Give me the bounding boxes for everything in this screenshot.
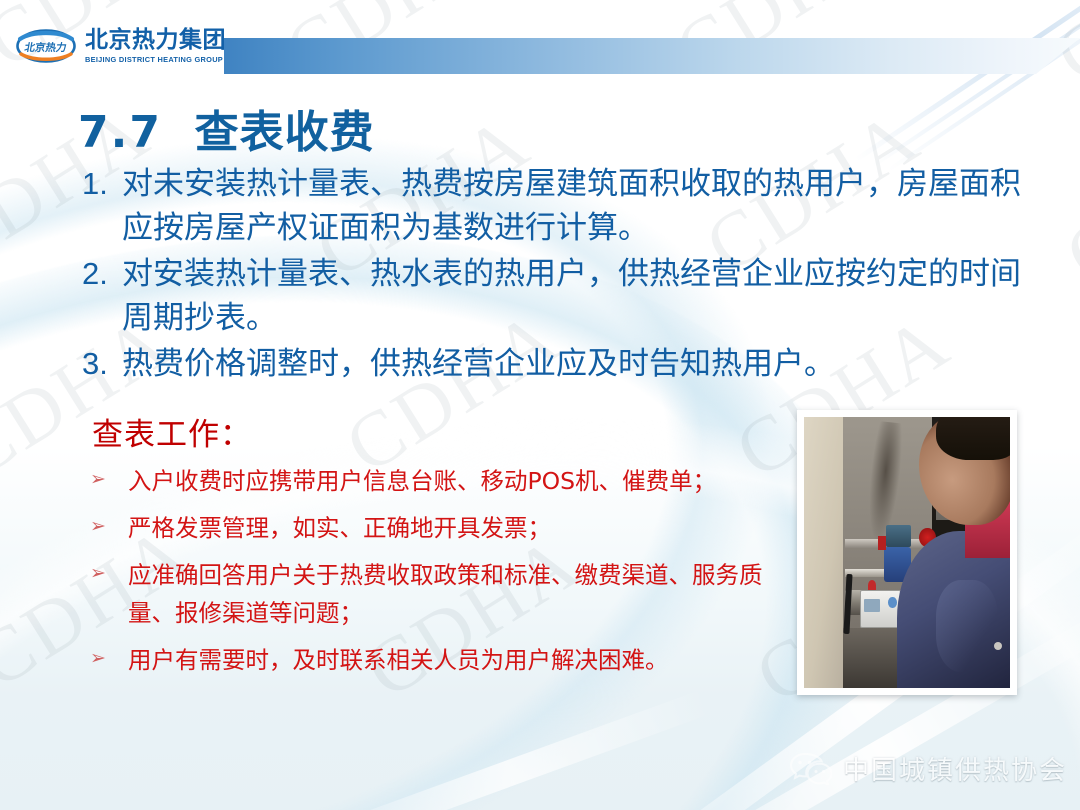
page-title: 7.7 查表收费 (78, 96, 375, 160)
list-item-text: 对安装热计量表、热水表的热用户，供热经营企业应按约定的时间周期抄表。 (122, 252, 1032, 340)
bullet-list: ➢ 入户收费时应携带用户信息台账、移动POS机、催费单； ➢ 严格发票管理，如实… (90, 462, 790, 688)
photo-worker-hair (936, 417, 1010, 460)
logo-english-name: BEIJING DISTRICT HEATING GROUP (85, 55, 226, 64)
bullet-item: ➢ 应准确回答用户关于热费收取政策和标准、缴费渠道、服务质量、报修渠道等问题； (90, 556, 790, 632)
photo-jacket-button (994, 642, 1002, 650)
list-item-text: 对未安装热计量表、热费按房屋建筑面积收取的热用户，房屋面积应按房屋产权证面积为基… (122, 162, 1032, 250)
list-item-index: 2. (82, 252, 122, 296)
bullet-text: 严格发票管理，如实、正确地开具发票； (128, 509, 790, 547)
wechat-icon (790, 752, 832, 785)
photo-meter-head (886, 525, 911, 547)
list-item: 3. 热费价格调整时，供热经营企业应及时告知热用户。 (82, 342, 1032, 386)
svg-text:北京热力: 北京热力 (23, 41, 67, 54)
logo-wordmark: 北京热力集团 BEIJING DISTRICT HEATING GROUP (85, 28, 226, 63)
section-heading: 查表工作： (92, 409, 252, 454)
logo-chinese-name: 北京热力集团 (85, 28, 226, 52)
meter-reading-photo (804, 417, 1010, 688)
bullet-item: ➢ 用户有需要时，及时联系相关人员为用户解决困难。 (90, 641, 790, 679)
bullet-text: 入户收费时应携带用户信息台账、移动POS机、催费单； (128, 462, 790, 500)
photo-wall-left (804, 417, 843, 688)
slide-root: CDHA CDHA CDHA CDHA CDHA CDHA CDHA CDHA … (0, 0, 1080, 810)
list-item: 2. 对安装热计量表、热水表的热用户，供热经营企业应按约定的时间周期抄表。 (82, 252, 1032, 340)
company-logo: 北京热力 北京热力集团 BEIJING DISTRICT HEATING GRO… (16, 28, 226, 64)
arrow-bullet-icon: ➢ (90, 556, 128, 591)
list-item-text: 热费价格调整时，供热经营企业应及时告知热用户。 (122, 342, 1032, 386)
bullet-text: 应准确回答用户关于热费收取政策和标准、缴费渠道、服务质量、报修渠道等问题； (128, 556, 790, 632)
header-gradient-bar (224, 38, 1080, 74)
photo-frame (797, 410, 1017, 695)
photo-jacket-fold (936, 580, 998, 672)
photo-meter-display (864, 599, 880, 613)
association-badge: 中国城镇供热协会 (790, 750, 1067, 787)
arrow-bullet-icon: ➢ (90, 641, 128, 676)
slide-header: 北京热力 北京热力集团 BEIJING DISTRICT HEATING GRO… (0, 0, 1080, 96)
arrow-bullet-icon: ➢ (90, 509, 128, 544)
photo-red-cap (868, 580, 876, 591)
photo-red-fitting (878, 536, 886, 550)
list-item-index: 1. (82, 162, 122, 206)
numbered-list: 1. 对未安装热计量表、热费按房屋建筑面积收取的热用户，房屋面积应按房屋产权证面… (82, 162, 1032, 388)
list-item-index: 3. (82, 342, 122, 386)
arrow-bullet-icon: ➢ (90, 462, 128, 497)
bullet-text: 用户有需要时，及时联系相关人员为用户解决困难。 (128, 641, 790, 679)
bullet-item: ➢ 严格发票管理，如实、正确地开具发票； (90, 509, 790, 547)
title-number: 7.7 (78, 107, 162, 158)
photo-meter-dial (888, 597, 896, 608)
bullet-item: ➢ 入户收费时应携带用户信息台账、移动POS机、催费单； (90, 462, 790, 500)
association-name: 中国城镇供热协会 (843, 750, 1067, 787)
title-text: 查表收费 (195, 107, 375, 158)
beijing-heating-emblem-icon: 北京热力 (16, 28, 76, 64)
list-item: 1. 对未安装热计量表、热费按房屋建筑面积收取的热用户，房屋面积应按房屋产权证面… (82, 162, 1032, 250)
